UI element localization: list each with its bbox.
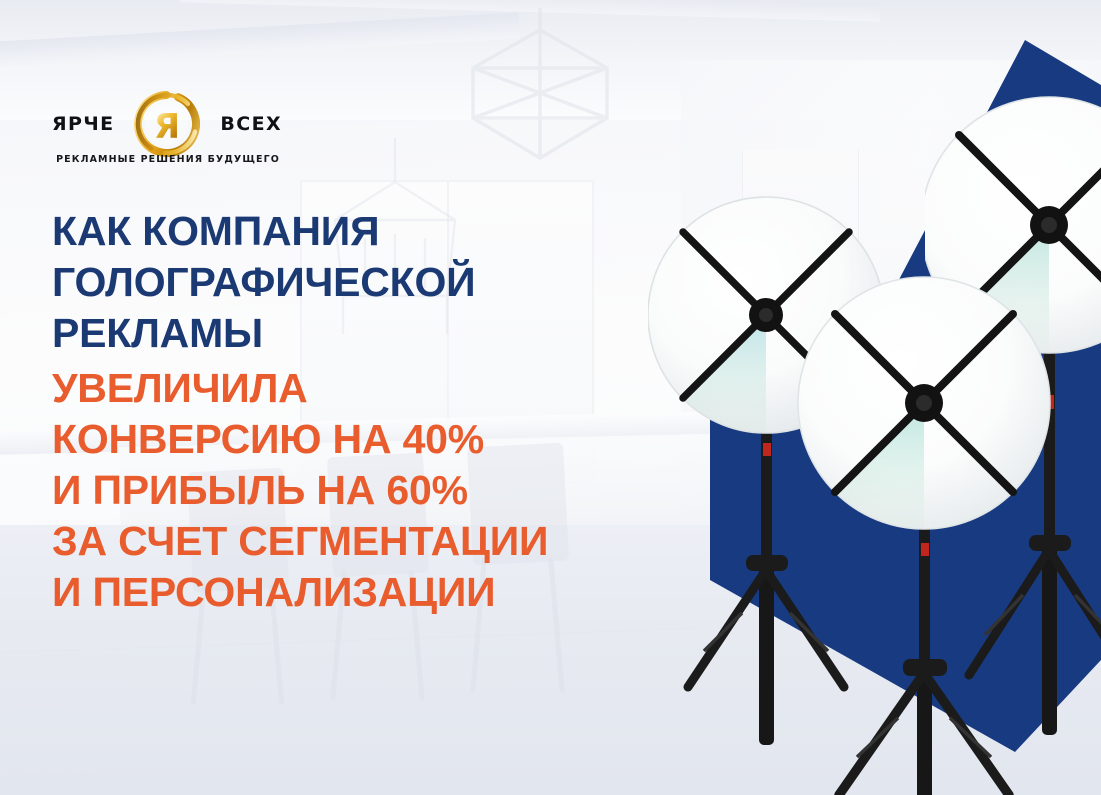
svg-text:Я: Я [154,107,180,147]
headline-line: ГОЛОГРАФИЧЕСКОЙ [52,257,652,308]
headline-line: УВЕЛИЧИЛА [52,363,652,414]
poster-canvas: ЯРЧЕ [0,0,1101,795]
headline-line: И ПРИБЫЛЬ НА 60% [52,465,652,516]
logo-word-right: ВСЕХ [220,115,282,134]
holographic-led-fan [795,275,1075,795]
headline-line: ЗА СЧЕТ СЕГМЕНТАЦИИ [52,516,652,567]
yarche-vseh-logo[interactable]: ЯРЧЕ [52,78,282,174]
headline-block: КАК КОМПАНИЯ ГОЛОГРАФИЧЕСКОЙ РЕКЛАМЫ УВЕ… [52,206,652,618]
logo-tagline: РЕКЛАМНЫЕ РЕШЕНИЯ БУДУЩЕГО [55,154,281,165]
headline-line: И ПЕРСОНАЛИЗАЦИИ [52,567,652,618]
logo-word-left: ЯРЧЕ [52,115,115,134]
headline-line: КАК КОМПАНИЯ [52,206,652,257]
headline-line: КОНВЕРСИЮ НА 40% [52,414,652,465]
golden-brush-circle-emblem: Я [129,86,205,162]
headline-line: РЕКЛАМЫ [52,308,652,359]
logo-wordmark-row: ЯРЧЕ [52,96,282,152]
